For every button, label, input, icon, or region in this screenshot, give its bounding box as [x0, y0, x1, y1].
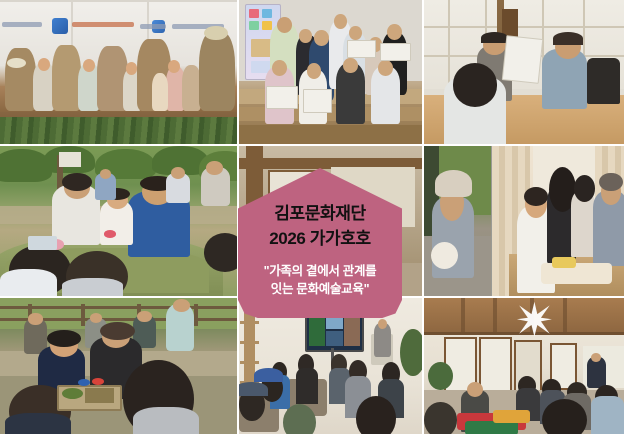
foundation-logo-icon: [52, 18, 68, 34]
program-title: 2026 가가호호: [269, 228, 371, 251]
tagline-line-1: "가족의 곁에서 관계를: [264, 262, 377, 280]
photo-middle-right: [424, 146, 624, 296]
photo-top-center: [239, 0, 422, 144]
poster: 김포문화재단 2026 가가호호 "가족의 곁에서 관계를 잇는 문화예술교육": [0, 0, 624, 434]
photo-top-left: [0, 0, 237, 144]
title-panel: 김포문화재단 2026 가가호호 "가족의 곁에서 관계를 잇는 문화예술교육": [238, 168, 402, 318]
tagline-line-2: 잇는 문화예술교육": [264, 280, 377, 298]
photo-bottom-right: [424, 298, 624, 434]
star-lamp-icon: [514, 301, 555, 337]
photo-top-right: [424, 0, 624, 144]
photo-middle-left: [0, 146, 237, 296]
photo-bottom-center: [239, 298, 422, 434]
photo-bottom-left: [0, 298, 237, 434]
organization-name: 김포문화재단: [274, 203, 365, 226]
